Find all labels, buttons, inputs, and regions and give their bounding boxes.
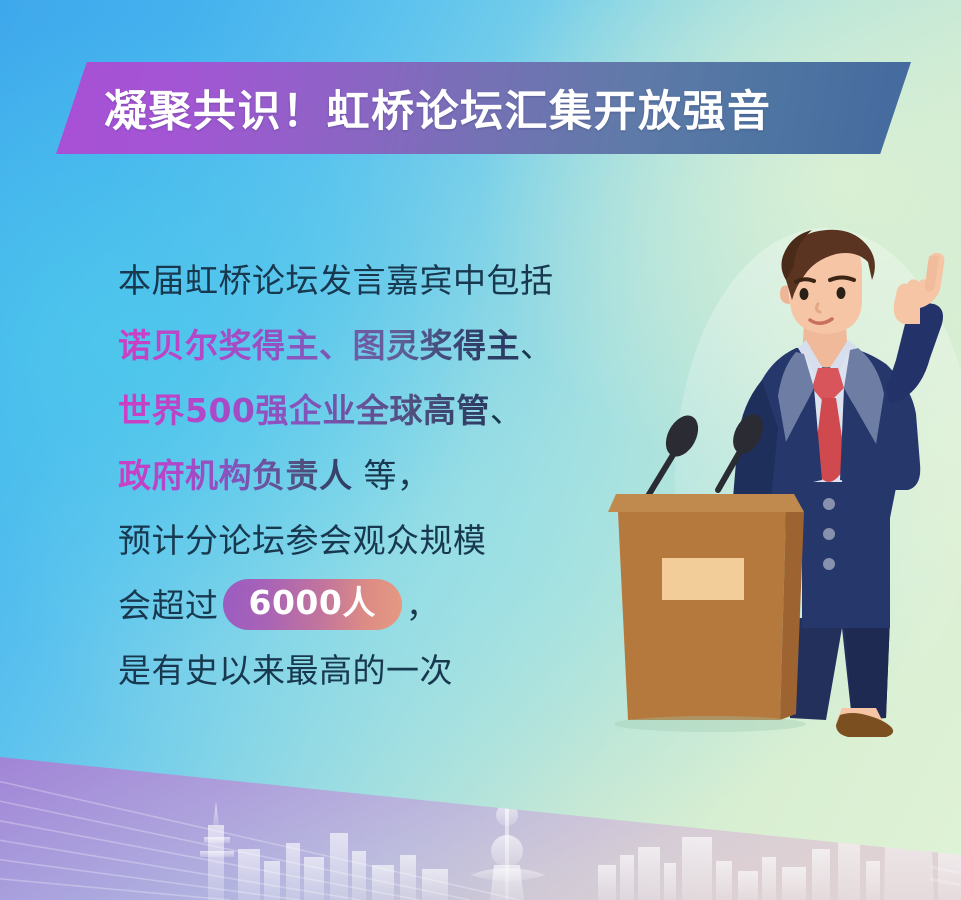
copy-line-4: 政府机构负责人 等， bbox=[118, 443, 638, 508]
copy-line-4-tail: 等， bbox=[353, 456, 431, 495]
eye-left bbox=[800, 288, 809, 300]
copy-line-3: 世界500强企业全球高管、 bbox=[118, 378, 638, 443]
attendance-count-pill: 6000人 bbox=[223, 579, 402, 630]
podium-top bbox=[608, 494, 804, 512]
podium-front bbox=[618, 512, 786, 720]
copy-line-2-highlight: 诺贝尔奖得主、图灵奖得主 bbox=[118, 326, 520, 365]
copy-line-1: 本届虹桥论坛发言嘉宾中包括 bbox=[118, 248, 638, 313]
body-copy: 本届虹桥论坛发言嘉宾中包括 诺贝尔奖得主、图灵奖得主、 世界500强企业全球高管… bbox=[118, 248, 638, 703]
title-banner-text: 凝聚共识！虹桥论坛汇集开放强音 bbox=[56, 62, 911, 154]
podium-plaque bbox=[662, 558, 744, 600]
copy-line-5-text: 预计分论坛参会观众规模 bbox=[118, 521, 487, 560]
copy-line-7-text: 是有史以来最高的一次 bbox=[118, 651, 453, 690]
eye-right bbox=[837, 287, 846, 299]
copy-line-6-suffix: ， bbox=[406, 586, 440, 625]
copy-line-7: 是有史以来最高的一次 bbox=[118, 638, 638, 703]
copy-line-2-tail: 、 bbox=[520, 326, 554, 365]
poster-root: 凝聚共识！虹桥论坛汇集开放强音 本届虹桥论坛发言嘉宾中包括 诺贝尔奖得主、图灵奖… bbox=[0, 0, 961, 900]
copy-line-4-highlight: 政府机构负责人 bbox=[118, 456, 353, 495]
copy-line-6-prefix: 会超过 bbox=[118, 586, 219, 625]
copy-line-5: 预计分论坛参会观众规模 bbox=[118, 508, 638, 573]
speaker-illustration bbox=[590, 228, 961, 748]
jacket-button-3 bbox=[823, 558, 835, 570]
copy-line-1-text: 本届虹桥论坛发言嘉宾中包括 bbox=[118, 261, 554, 300]
trousers-right-leg bbox=[845, 618, 890, 720]
skyline-band bbox=[0, 715, 961, 900]
copy-line-2: 诺贝尔奖得主、图灵奖得主、 bbox=[118, 313, 638, 378]
copy-line-6: 会超过6000人， bbox=[118, 573, 638, 638]
skyline-right bbox=[838, 799, 961, 900]
copy-line-3-tail: 、 bbox=[490, 391, 524, 430]
copy-line-3-highlight: 世界500强企业全球高管 bbox=[118, 391, 490, 430]
jacket-button-2 bbox=[823, 528, 835, 540]
jacket-button-1 bbox=[823, 498, 835, 510]
title-banner: 凝聚共识！虹桥论坛汇集开放强音 bbox=[56, 62, 911, 154]
